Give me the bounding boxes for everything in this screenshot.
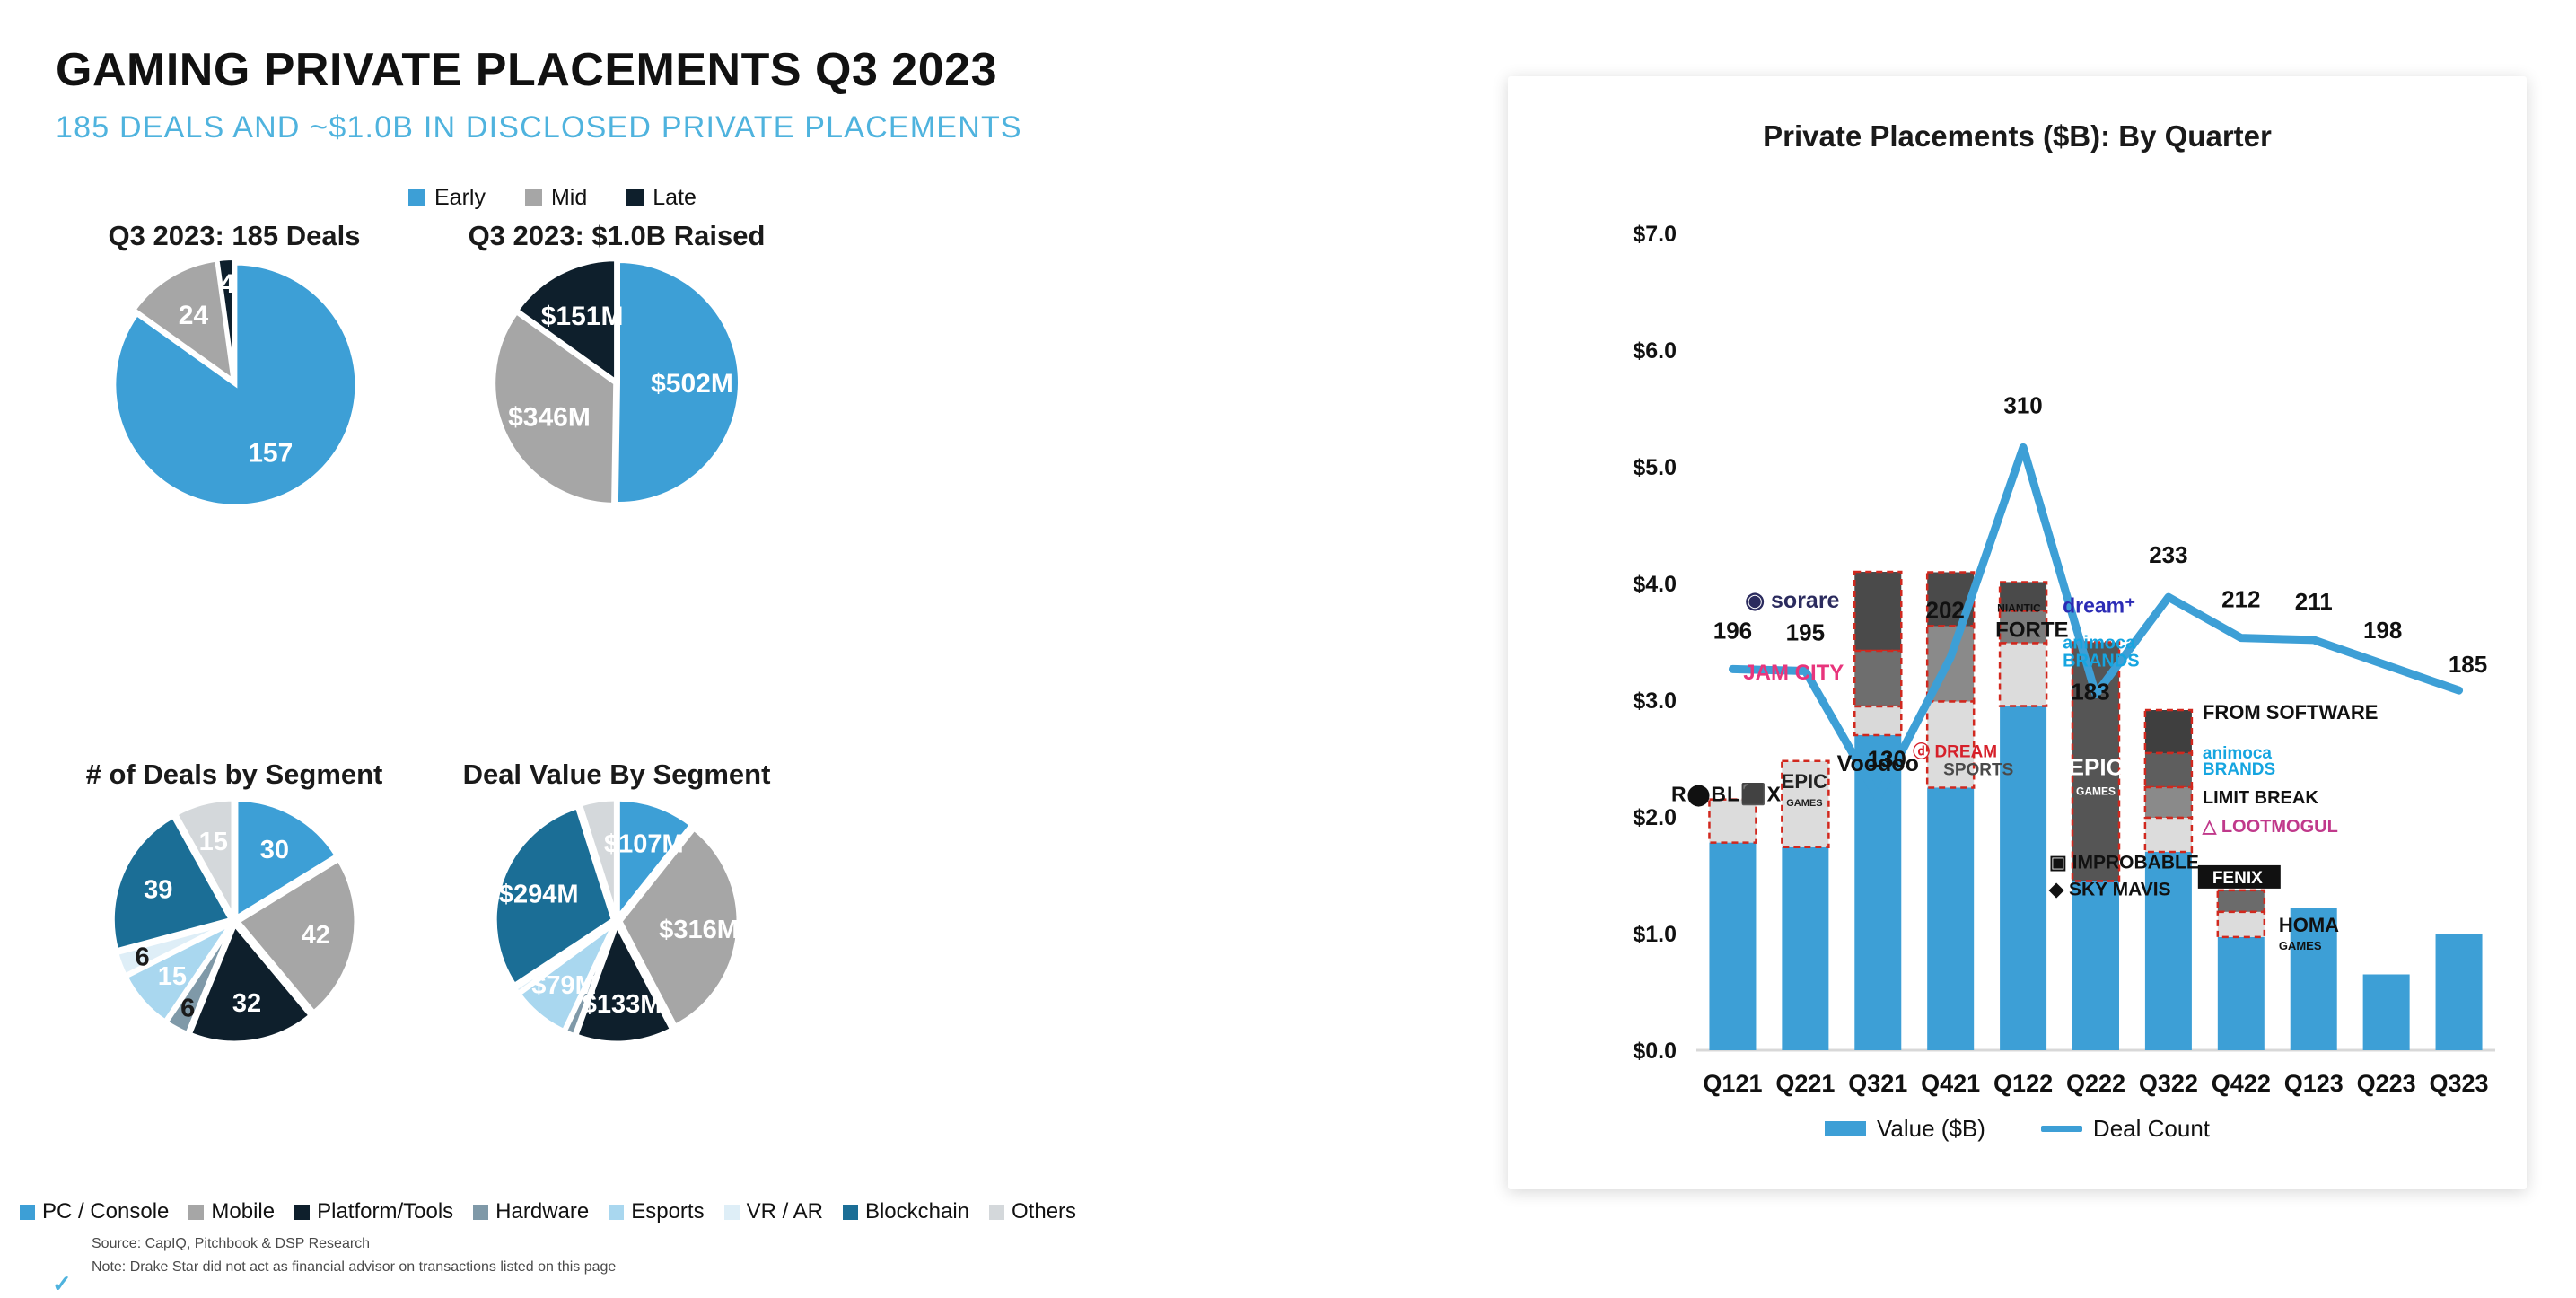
pie-canvas: 157244 (41, 252, 427, 522)
deal-logo-block (1854, 651, 1901, 706)
pie-slice-label: 32 (232, 989, 261, 1018)
legend-label: Hardware (495, 1199, 589, 1224)
pie-slice-label: 157 (248, 439, 293, 469)
company-logo-label: FROM SOFTWARE (2203, 701, 2379, 724)
deal-count-label: 212 (2221, 586, 2260, 613)
deal-count-label: 196 (1713, 617, 1752, 644)
legend-item-early: Early (408, 185, 486, 211)
deal-count-label: 233 (2149, 541, 2187, 568)
legend-label: Others (1012, 1199, 1076, 1224)
legend-item-pc-console: PC / Console (20, 1199, 169, 1224)
disclaimer-note: Note: Drake Star did not act as financia… (92, 1256, 616, 1279)
legend-item-others: Others (989, 1199, 1076, 1224)
legend-item-platform-tools: Platform/Tools (294, 1199, 453, 1224)
legend-label: Deal Count (2093, 1115, 2210, 1143)
pie-slice-label: $151M (541, 302, 624, 331)
company-logo-label: BRANDS (2203, 760, 2275, 779)
legend-item-esports: Esports (609, 1199, 704, 1224)
bar (1927, 788, 1974, 1051)
deal-count-label: 310 (2003, 391, 2042, 418)
pie-slice-label: 39 (144, 875, 172, 904)
x-axis-tick-label: Q223 (2357, 1070, 2416, 1097)
legend-label: Value ($B) (1877, 1115, 1985, 1143)
x-axis-tick-label: Q321 (1848, 1070, 1907, 1097)
bar (1782, 847, 1828, 1050)
footnotes: Source: CapIQ, Pitchbook & DSP Research … (92, 1232, 616, 1280)
chart-deals-by-segment: # of Deals by Segment 30423261563915 (41, 759, 427, 1060)
pie-slice-label: 4 (220, 269, 235, 299)
company-logo-label: animoca (2063, 634, 2136, 653)
chart-title: Deal Value By Segment (424, 759, 810, 791)
legend-swatch-icon (188, 1205, 204, 1220)
legend-label: Early (434, 185, 486, 211)
company-logo-label: GAMES (2279, 939, 2322, 952)
legend-label: VR / AR (747, 1199, 823, 1224)
legend-item-mobile: Mobile (188, 1199, 275, 1224)
chart-legend-item-deal-count: Deal Count (2041, 1115, 2210, 1143)
chart-title: Q3 2023: 185 Deals (41, 220, 427, 252)
company-logo-label: GAMES (2076, 785, 2116, 798)
legend-item-hardware: Hardware (473, 1199, 589, 1224)
deal-count-label: 183 (2071, 679, 2109, 706)
pie-canvas: $502M$346M$151M (424, 252, 810, 522)
x-axis-tick-label: Q222 (2066, 1070, 2125, 1097)
company-logo-label: SPORTS (1943, 761, 2013, 780)
deal-count-label: 211 (2295, 588, 2333, 615)
company-logo-label: ⓓ DREAM (1913, 741, 1997, 762)
legend-swatch-icon (2041, 1126, 2082, 1132)
y-axis-tick-label: $2.0 (1633, 805, 1677, 830)
legend-item-mid: Mid (525, 185, 587, 211)
company-logo-label: △ LOOTMOGUL (2202, 817, 2338, 837)
deal-logo-block (2218, 912, 2265, 937)
legend-item-late: Late (626, 185, 697, 211)
deal-logo-block (1854, 706, 1901, 735)
pie-svg: 30423261563915 (41, 791, 427, 1060)
company-logo-label: BRANDS (2063, 652, 2140, 671)
deal-logo-block (2145, 787, 2192, 818)
y-axis-tick-label: $1.0 (1633, 922, 1677, 947)
pie-slice-label: 6 (180, 995, 195, 1023)
legend-swatch-icon (408, 189, 425, 206)
pie-slice-label: 30 (260, 836, 289, 864)
x-axis-tick-label: Q221 (1775, 1070, 1835, 1097)
company-logo-label: ▣ IMPROBABLE (2049, 853, 2199, 873)
pie-slice-label: 6 (136, 943, 150, 971)
pie-slice-label: $346M (508, 402, 591, 432)
legend-label: PC / Console (42, 1199, 169, 1224)
legend-label: Blockchain (865, 1199, 969, 1224)
legend-swatch-icon (724, 1205, 740, 1220)
deal-logo-block (2145, 710, 2192, 753)
legend-swatch-icon (525, 189, 542, 206)
chart-q3-deals: Q3 2023: 185 Deals 157244 (41, 220, 427, 522)
pie-canvas: 30423261563915 (41, 791, 427, 1060)
pie-slice-label: $316M (659, 916, 739, 944)
legend-item-vr-ar: VR / AR (724, 1199, 823, 1224)
company-logo-label: NIANTIC (1997, 602, 2041, 615)
deal-count-label: 202 (1925, 596, 1964, 623)
pie-slice-label: 15 (199, 828, 228, 856)
x-axis-tick-label: Q121 (1703, 1070, 1762, 1097)
bar (1854, 735, 1901, 1050)
deal-logo-block (1854, 572, 1901, 651)
legend-label: Mid (551, 185, 587, 211)
company-logo-label: HOMA (2279, 914, 2339, 936)
bar (1709, 843, 1756, 1050)
deal-count-label: 185 (2449, 651, 2487, 678)
company-logo-label: FENIX (2212, 869, 2263, 888)
y-axis-tick-label: $7.0 (1633, 222, 1677, 247)
chart-title: # of Deals by Segment (41, 759, 427, 791)
pie-slice-label: 24 (179, 301, 209, 330)
deal-logo-block (2000, 644, 2046, 706)
pie-slice-label: $502M (651, 369, 733, 399)
page-title: GAMING PRIVATE PLACEMENTS Q3 2023 (56, 43, 997, 97)
chart-title: Q3 2023: $1.0B Raised (424, 220, 810, 252)
company-logo-label: JAM CITY (1743, 661, 1844, 685)
y-axis-tick-label: $6.0 (1633, 338, 1677, 364)
company-logo-label: ◆ SKY MAVIS (2048, 880, 2171, 900)
bar (2436, 934, 2483, 1050)
deal-logo-block (1709, 800, 1756, 843)
legend-swatch-icon (609, 1205, 624, 1220)
company-logo-label: EPIC (1782, 770, 1827, 793)
legend-label: Esports (631, 1199, 704, 1224)
company-logo-label: ◉ sorare (1745, 588, 1839, 613)
legend-label: Platform/Tools (317, 1199, 453, 1224)
bar (2000, 706, 2046, 1051)
segment-legend: PC / ConsoleMobilePlatform/ToolsHardware… (20, 1199, 1096, 1224)
chart-q3-raised: Q3 2023: $1.0B Raised $502M$346M$151M (424, 220, 810, 522)
bar (2072, 881, 2119, 1051)
pie-slice-label: 15 (158, 962, 187, 991)
legend-swatch-icon (20, 1205, 35, 1220)
legend-swatch-icon (989, 1205, 1004, 1220)
x-axis-tick-label: Q323 (2430, 1070, 2489, 1097)
bar (2218, 937, 2265, 1050)
x-axis-tick-label: Q122 (1993, 1070, 2053, 1097)
pie-canvas: $107M$316M$133M$79M$294M (424, 791, 810, 1060)
legend-label: Mobile (211, 1199, 275, 1224)
deal-count-label: 198 (2363, 617, 2402, 644)
company-logo-label: FORTE (1995, 618, 2068, 643)
page-subtitle: 185 DEALS AND ~$1.0B IN DISCLOSED PRIVAT… (56, 110, 1022, 145)
y-axis-tick-label: $4.0 (1633, 572, 1677, 597)
x-axis-tick-label: Q322 (2139, 1070, 2198, 1097)
y-axis-tick-label: $5.0 (1633, 455, 1677, 480)
company-logo-label: EPIC (2069, 754, 2124, 781)
brand-checkmark-icon: ✓ (52, 1270, 72, 1298)
company-logo-label: GAMES (1786, 798, 1822, 809)
legend-swatch-icon (626, 189, 644, 206)
pie-svg: $107M$316M$133M$79M$294M (424, 791, 810, 1060)
legend-item-blockchain: Blockchain (843, 1199, 969, 1224)
chart-legend-item-value-b: Value ($B) (1825, 1115, 1985, 1143)
source-note: Source: CapIQ, Pitchbook & DSP Research (92, 1232, 616, 1256)
pie-slice-label: 42 (302, 921, 330, 950)
chart-legend: Value ($B)Deal Count (1508, 1115, 2527, 1143)
y-axis-tick-label: $3.0 (1633, 688, 1677, 714)
legend-swatch-icon (1825, 1121, 1866, 1136)
chart-value-by-segment: Deal Value By Segment $107M$316M$133M$79… (424, 759, 810, 1060)
legend-label: Late (653, 185, 697, 211)
y-axis-tick-label: $0.0 (1633, 1039, 1677, 1064)
stage-legend: EarlyMidLate (408, 185, 697, 211)
legend-swatch-icon (473, 1205, 488, 1220)
pie-slice-label: $107M (604, 829, 684, 858)
pie-slice-label: $79M (531, 971, 597, 1000)
legend-swatch-icon (294, 1205, 310, 1220)
company-logo-label: dream⁺ (2063, 594, 2135, 618)
legend-swatch-icon (843, 1205, 858, 1220)
company-logo-label: Voodoo (1837, 751, 1919, 776)
pie-svg: 157244 (41, 252, 427, 522)
pie-slice-label: $294M (499, 881, 579, 909)
quarterly-chart-panel: Private Placements ($B): By Quarter $0.0… (1508, 76, 2527, 1189)
x-axis-tick-label: Q422 (2212, 1070, 2271, 1097)
deal-logo-block (2145, 818, 2192, 852)
company-logo-label: LIMIT BREAK (2203, 788, 2318, 808)
x-axis-tick-label: Q123 (2284, 1070, 2344, 1097)
quarterly-chart-svg: $0.0$1.0$2.0$3.0$4.0$5.0$6.0$7.019619513… (1508, 76, 2527, 1189)
bar (2363, 975, 2410, 1051)
deal-count-label: 195 (1786, 619, 1825, 646)
pie-svg: $502M$346M$151M (424, 252, 810, 522)
x-axis-tick-label: Q421 (1921, 1070, 1980, 1097)
deal-logo-block (2218, 890, 2265, 912)
deal-logo-block (2145, 753, 2192, 787)
company-logo-label: R⬤BL⬛X (1671, 783, 1782, 808)
